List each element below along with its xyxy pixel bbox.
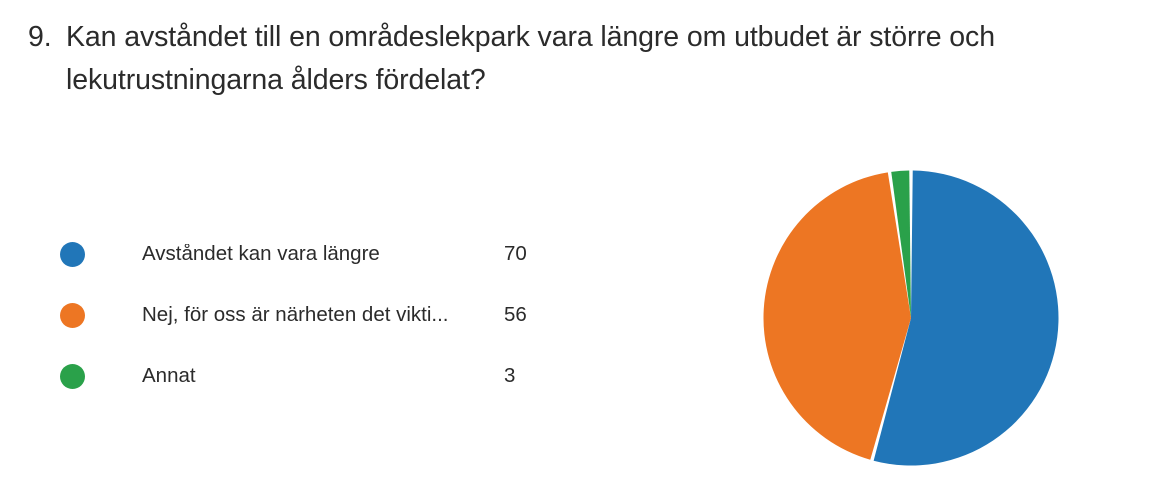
legend-item-2[interactable]: Annat 3 xyxy=(60,346,530,407)
legend-value-0: 70 xyxy=(504,244,554,265)
question-heading: 9. Kan avståndet till en områdeslekpark … xyxy=(28,16,1128,103)
legend-label-1: Nej, för oss är närheten det vikti... xyxy=(142,305,504,326)
question-text: Kan avståndet till en områdeslekpark var… xyxy=(66,16,1111,103)
legend-item-0[interactable]: Avståndet kan vara längre 70 xyxy=(60,224,530,285)
legend-item-1[interactable]: Nej, för oss är närheten det vikti... 56 xyxy=(60,285,530,346)
question-number: 9. xyxy=(28,16,66,59)
legend-label-2: Annat xyxy=(142,366,504,387)
pie-chart-svg xyxy=(763,170,1059,466)
legend-label-0: Avståndet kan vara längre xyxy=(142,244,504,265)
legend-swatch-orange-icon xyxy=(60,303,85,328)
legend-swatch-green-icon xyxy=(60,364,85,389)
pie-chart[interactable] xyxy=(763,170,1059,466)
legend-swatch-blue-icon xyxy=(60,242,85,267)
legend-value-2: 3 xyxy=(504,366,554,387)
chart-legend: Avståndet kan vara längre 70 Nej, för os… xyxy=(60,224,530,407)
legend-value-1: 56 xyxy=(504,305,554,326)
